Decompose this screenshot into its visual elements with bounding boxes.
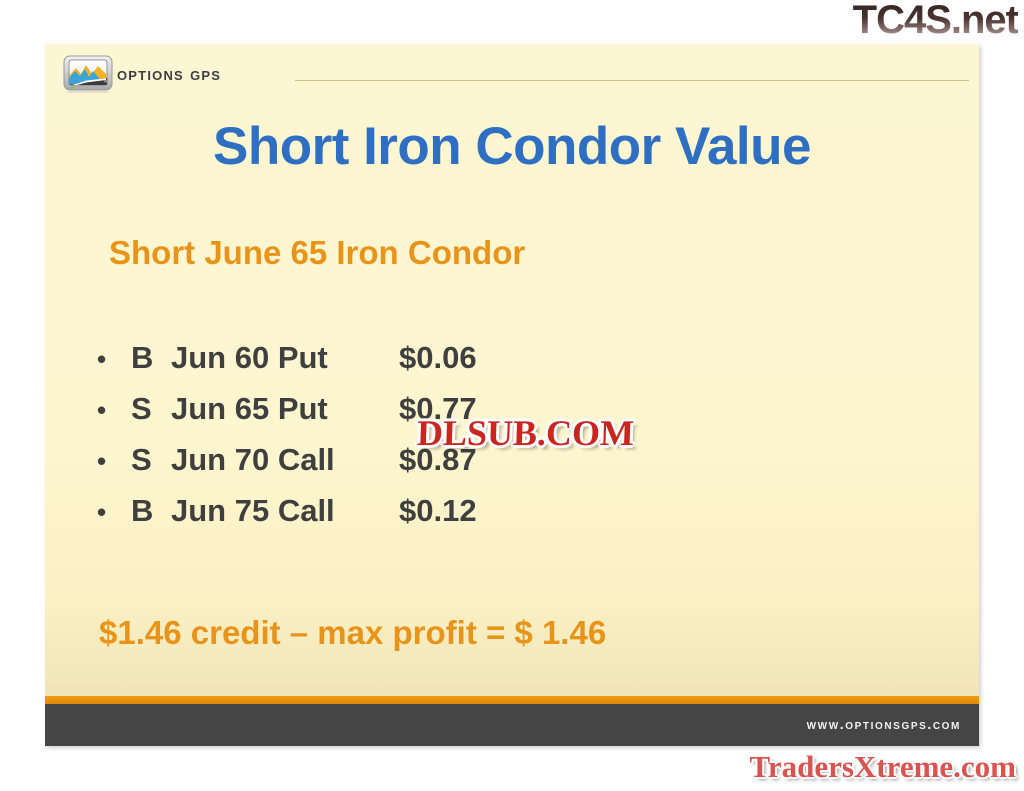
leg-description: Jun 70 Call: [171, 442, 399, 478]
presentation-slide: Options GPS Short Iron Condor Value Shor…: [45, 44, 979, 746]
leg-description: Jun 65 Put: [171, 391, 399, 427]
bullet-dot-icon: •: [97, 448, 131, 474]
footer-website-url: www.OptionsGPS.com: [807, 716, 961, 732]
header-divider: [295, 80, 969, 81]
list-item: • B Jun 60 Put $0.06: [97, 340, 717, 391]
tradersxtreme-watermark: TradersXtreme.com: [749, 749, 1016, 785]
leg-description: Jun 60 Put: [171, 340, 399, 376]
bullet-dot-icon: •: [97, 499, 131, 525]
leg-price: $0.12: [399, 493, 477, 529]
leg-action: B: [131, 493, 171, 529]
slide-header: Options GPS: [45, 44, 979, 100]
dlsub-watermark: DLSUB.COM: [416, 412, 634, 454]
page-title: Short Iron Condor Value: [45, 116, 979, 177]
slide-footer: www.OptionsGPS.com: [45, 704, 979, 746]
leg-action: S: [131, 442, 171, 478]
leg-action: S: [131, 391, 171, 427]
list-item: • B Jun 75 Call $0.12: [97, 493, 717, 544]
bullet-dot-icon: •: [97, 397, 131, 423]
leg-action: B: [131, 340, 171, 376]
slide-subheading: Short June 65 Iron Condor: [109, 234, 525, 272]
brand-label: Options GPS: [117, 64, 221, 85]
tc4s-watermark: TC4S.net: [853, 0, 1018, 43]
bullet-dot-icon: •: [97, 346, 131, 372]
leg-description: Jun 75 Call: [171, 493, 399, 529]
credit-summary: $1.46 credit – max profit = $ 1.46: [99, 614, 606, 652]
footer-accent-stripe: [45, 696, 979, 704]
leg-price: $0.06: [399, 340, 477, 376]
gps-device-icon: [62, 54, 116, 94]
